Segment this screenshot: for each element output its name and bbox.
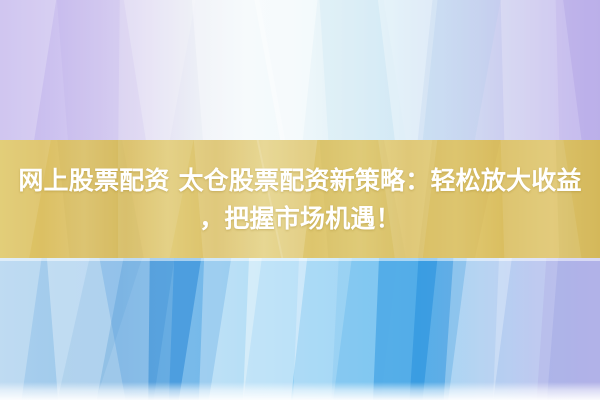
headline-line-2: ，把握市场机遇！ <box>199 200 401 238</box>
top-facet-shards <box>0 0 600 142</box>
headline: 网上股票配资 太仓股票配资新策略：轻松放大收益 ，把握市场机遇！ <box>0 140 600 259</box>
bottom-facet-shards <box>0 258 600 400</box>
bottom-gradient-field <box>0 258 600 400</box>
top-gradient-field <box>0 0 600 142</box>
promo-banner: 网上股票配资 太仓股票配资新策略：轻松放大收益 ，把握市场机遇！ <box>0 0 600 400</box>
headline-line-1: 网上股票配资 太仓股票配资新策略：轻松放大收益 <box>18 162 581 200</box>
